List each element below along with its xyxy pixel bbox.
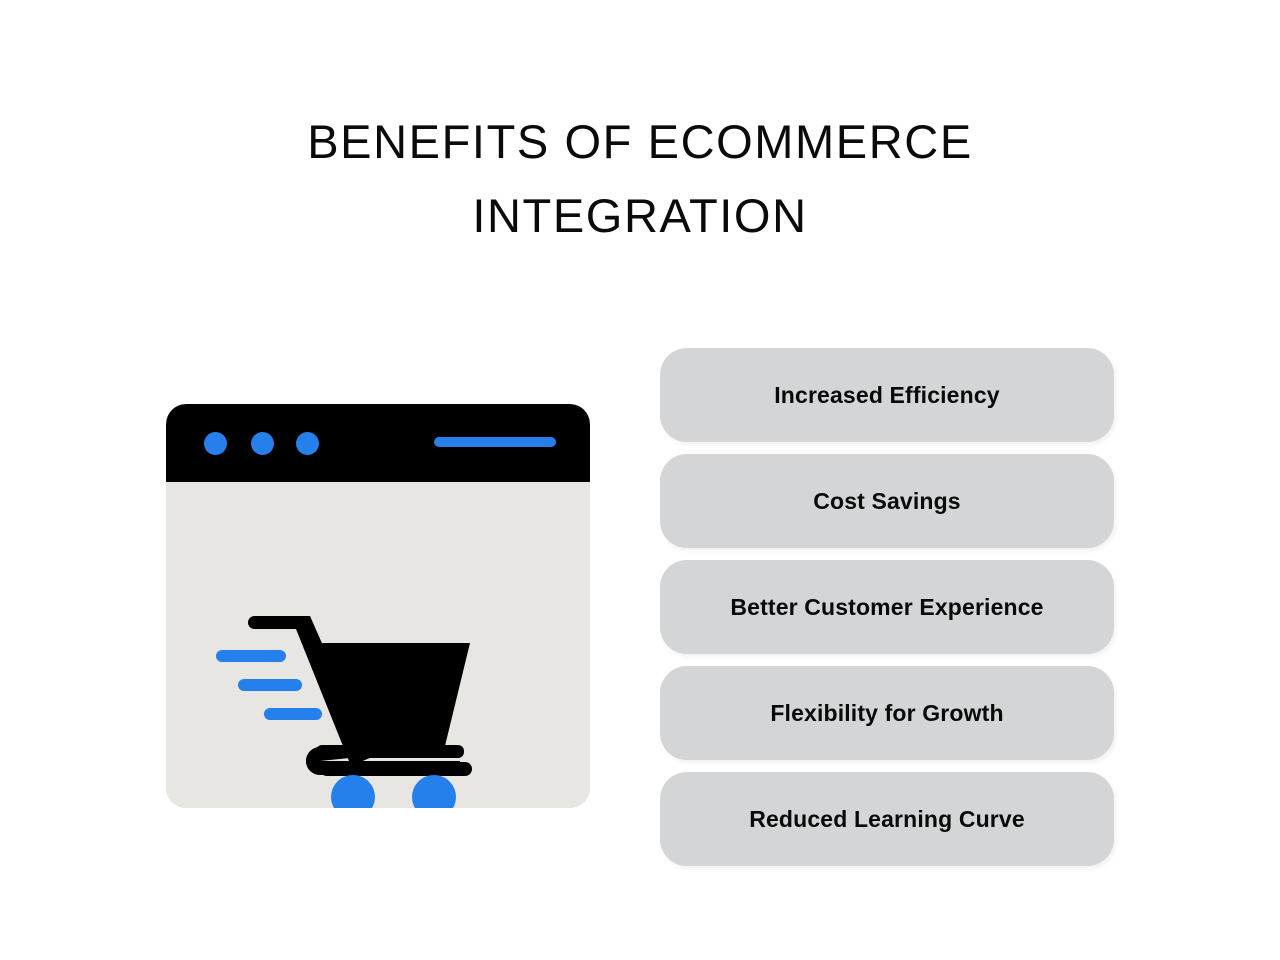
benefit-pill-4[interactable]: Flexibility for Growth	[660, 666, 1114, 760]
benefit-label-5: Reduced Learning Curve	[749, 806, 1025, 833]
slide-canvas: BENEFITS OF ECOMMERCE INTEGRATION	[0, 0, 1280, 960]
browser-window-illustration	[166, 404, 590, 808]
benefit-pill-5[interactable]: Reduced Learning Curve	[660, 772, 1114, 866]
browser-content-area	[166, 482, 590, 808]
browser-titlebar	[166, 404, 590, 482]
shopping-cart-icon	[212, 607, 552, 808]
benefits-list: Increased Efficiency Cost Savings Better…	[660, 348, 1114, 866]
benefit-label-4: Flexibility for Growth	[770, 700, 1003, 727]
browser-dot-1-icon	[204, 432, 227, 455]
benefit-label-3: Better Customer Experience	[730, 594, 1043, 621]
browser-dot-3-icon	[296, 432, 319, 455]
benefit-pill-3[interactable]: Better Customer Experience	[660, 560, 1114, 654]
benefit-pill-1[interactable]: Increased Efficiency	[660, 348, 1114, 442]
browser-dot-2-icon	[251, 432, 274, 455]
benefit-label-2: Cost Savings	[813, 488, 961, 515]
benefit-pill-2[interactable]: Cost Savings	[660, 454, 1114, 548]
page-title-line-1: BENEFITS OF ECOMMERCE	[0, 105, 1280, 179]
browser-address-bar-icon	[434, 437, 556, 447]
page-title: BENEFITS OF ECOMMERCE INTEGRATION	[0, 105, 1280, 253]
page-title-line-2: INTEGRATION	[0, 179, 1280, 253]
benefit-label-1: Increased Efficiency	[774, 382, 999, 409]
